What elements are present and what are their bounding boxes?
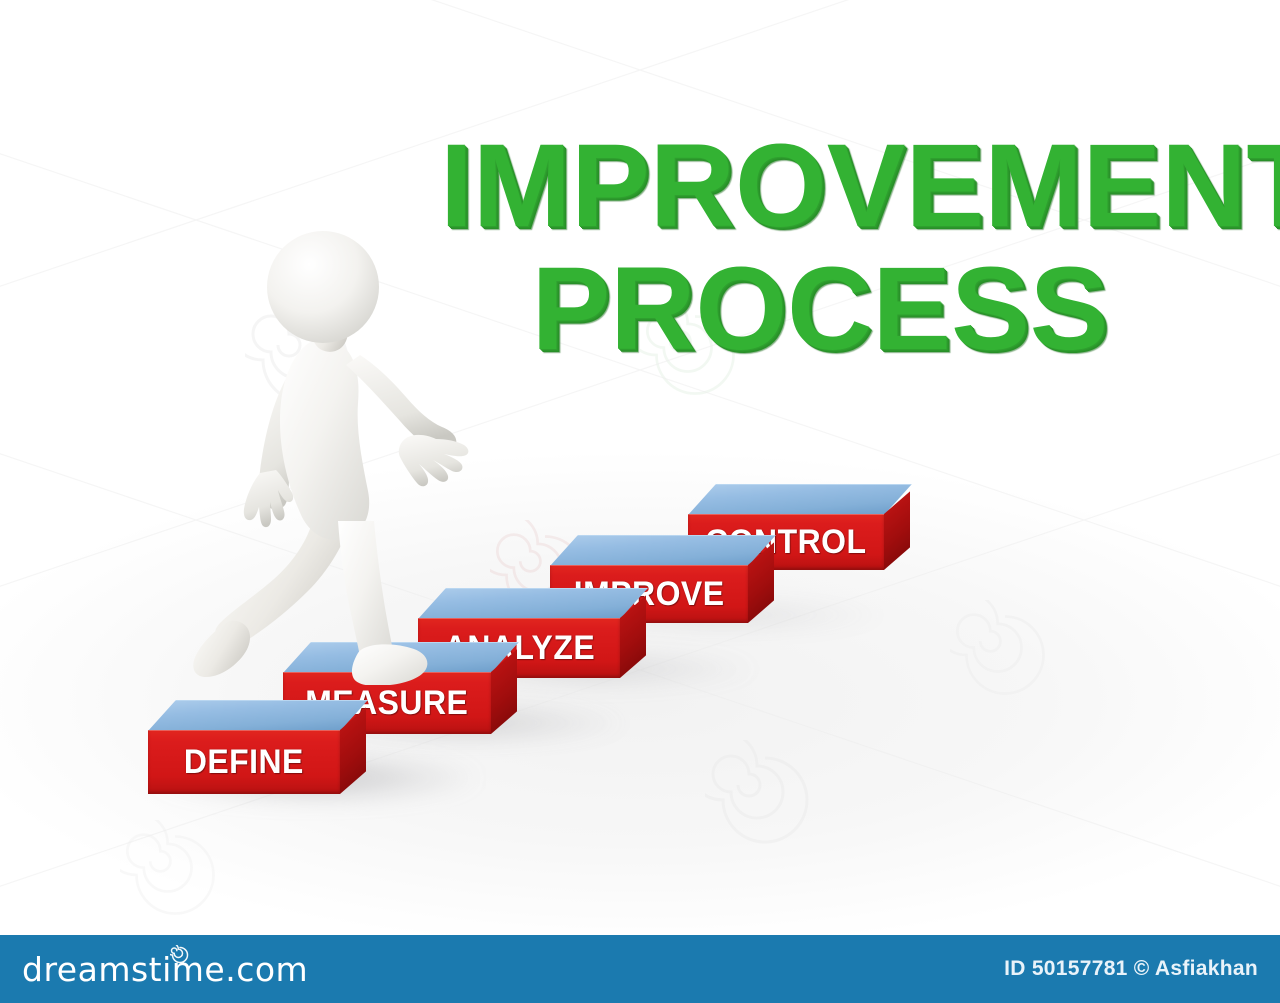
- character-front-leg: [338, 521, 427, 685]
- spiral-watermark-icon: [120, 820, 230, 930]
- title-line-improvement: IMPROVEMENT: [440, 132, 1200, 241]
- image-canvas: IMPROVEMENT PROCESS CONTROL IMPROVE: [0, 0, 1280, 1003]
- spiral-watermark-icon: [640, 300, 750, 410]
- dreamstime-logo[interactable]: dreamstime.com: [22, 950, 308, 989]
- character-3d-person[interactable]: [160, 225, 480, 685]
- spiral-watermark-icon: [705, 740, 825, 860]
- step-define[interactable]: DEFINE: [148, 700, 340, 794]
- step-front-face: DEFINE: [148, 730, 340, 794]
- spiral-logo-icon: [170, 934, 190, 954]
- character-front-arm: [346, 355, 468, 486]
- title-line-process: PROCESS: [440, 255, 1200, 364]
- character-torso: [280, 315, 369, 540]
- page-title: IMPROVEMENT PROCESS: [440, 132, 1200, 363]
- step-label-define: DEFINE: [184, 743, 304, 782]
- dreamstime-logo-text: dreamstime.com: [22, 950, 308, 989]
- spiral-watermark-icon: [950, 600, 1060, 710]
- step-top-face: [148, 700, 368, 731]
- character-head: [267, 231, 379, 343]
- step-top-face: [550, 535, 776, 566]
- watermark-footer-bar: dreamstime.com ID 50157781 © Asfiakhan: [0, 935, 1280, 1003]
- image-credit: ID 50157781 © Asfiakhan: [1004, 957, 1258, 981]
- step-top-face: [688, 484, 912, 515]
- character-back-leg: [193, 523, 350, 677]
